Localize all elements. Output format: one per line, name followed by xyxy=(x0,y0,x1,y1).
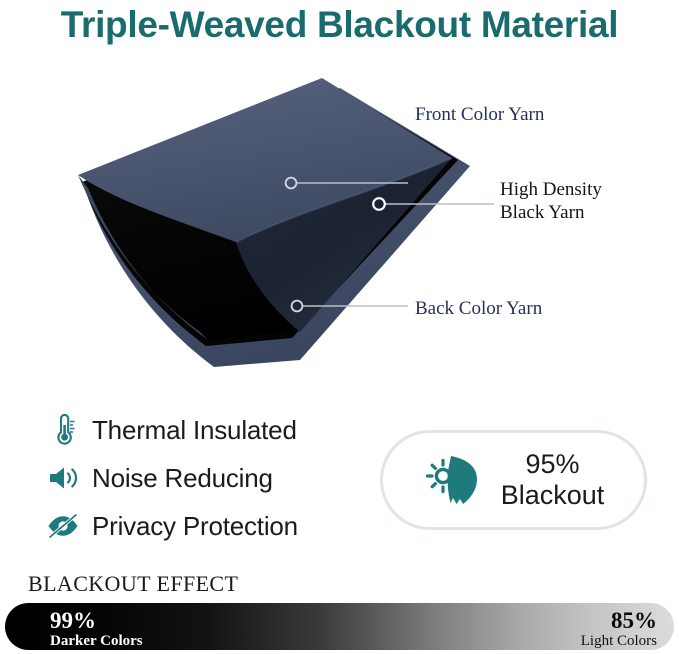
darker-colors-label: Darker Colors xyxy=(50,633,143,650)
feature-label-noise-reducing: Noise Reducing xyxy=(92,463,273,494)
thermometer-icon xyxy=(46,413,80,447)
callout-label-back-color-yarn: Back Color Yarn xyxy=(415,297,542,320)
blackout-badge-percent: 95% xyxy=(501,449,605,480)
feature-row-thermal-insulated: Thermal Insulated xyxy=(46,408,376,452)
callout-label-line-2: Black Yarn xyxy=(500,201,602,224)
feature-label-privacy-protection: Privacy Protection xyxy=(92,511,298,542)
light-colors-percent: 85% xyxy=(581,608,657,633)
page-title: Triple-Weaved Blackout Material xyxy=(0,4,679,46)
feature-row-noise-reducing: Noise Reducing xyxy=(46,456,376,500)
feature-label-thermal-insulated: Thermal Insulated xyxy=(92,415,297,446)
gradient-label-darker-colors: 99% Darker Colors xyxy=(50,608,143,650)
blackout-badge: 95% Blackout xyxy=(380,430,647,530)
callout-label-line-1: High Density xyxy=(500,178,602,201)
sun-blocked-by-curtain-icon xyxy=(423,451,485,509)
eye-slash-icon xyxy=(46,509,80,543)
callout-label-front-color-yarn: Front Color Yarn xyxy=(415,103,544,126)
blackout-effect-heading: BLACKOUT EFFECT xyxy=(28,571,238,597)
blackout-badge-label: Blackout xyxy=(501,480,605,511)
blackout-badge-text: 95% Blackout xyxy=(501,449,605,511)
feature-list: Thermal Insulated Noise Reducing Privacy… xyxy=(46,408,376,552)
feature-row-privacy-protection: Privacy Protection xyxy=(46,504,376,548)
speaker-sound-icon xyxy=(46,461,80,495)
gradient-label-light-colors: 85% Light Colors xyxy=(581,608,657,650)
callout-label-high-density-black-yarn: High Density Black Yarn xyxy=(500,178,602,224)
darker-colors-percent: 99% xyxy=(50,608,143,633)
light-colors-label: Light Colors xyxy=(581,633,657,650)
